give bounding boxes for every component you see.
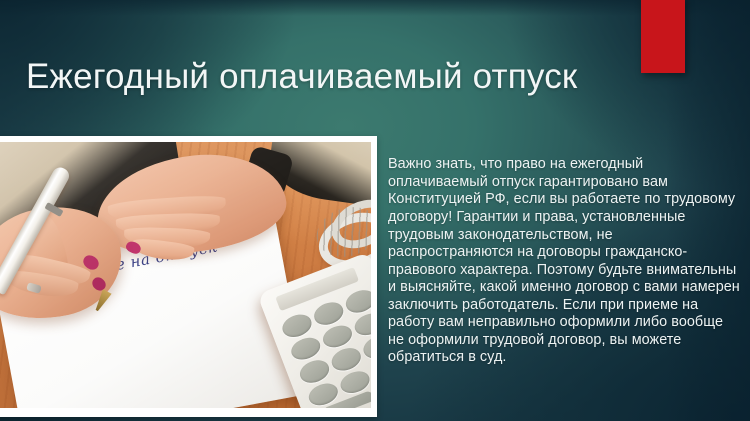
red-accent-bar — [641, 0, 685, 73]
slide-title: Ежегодный оплачиваемый отпуск — [26, 55, 626, 99]
phone-key — [297, 356, 332, 386]
vacation-application-photo: Заявление на отпуск — [0, 142, 371, 408]
phone-key — [279, 311, 314, 341]
phone-key — [351, 309, 371, 339]
phone-key — [329, 344, 364, 374]
phone-key — [320, 321, 355, 351]
phone-key — [311, 298, 346, 328]
phone-key — [360, 332, 371, 362]
slide-body-text: Важно знать, что право на ежегодный опла… — [388, 156, 740, 367]
phone-key — [343, 286, 371, 316]
phone-key — [288, 333, 323, 363]
presentation-slide: Ежегодный оплачиваемый отпуск Заявление … — [0, 0, 750, 421]
photo-frame: Заявление на отпуск — [0, 136, 377, 417]
background-top-strip — [0, 0, 750, 16]
